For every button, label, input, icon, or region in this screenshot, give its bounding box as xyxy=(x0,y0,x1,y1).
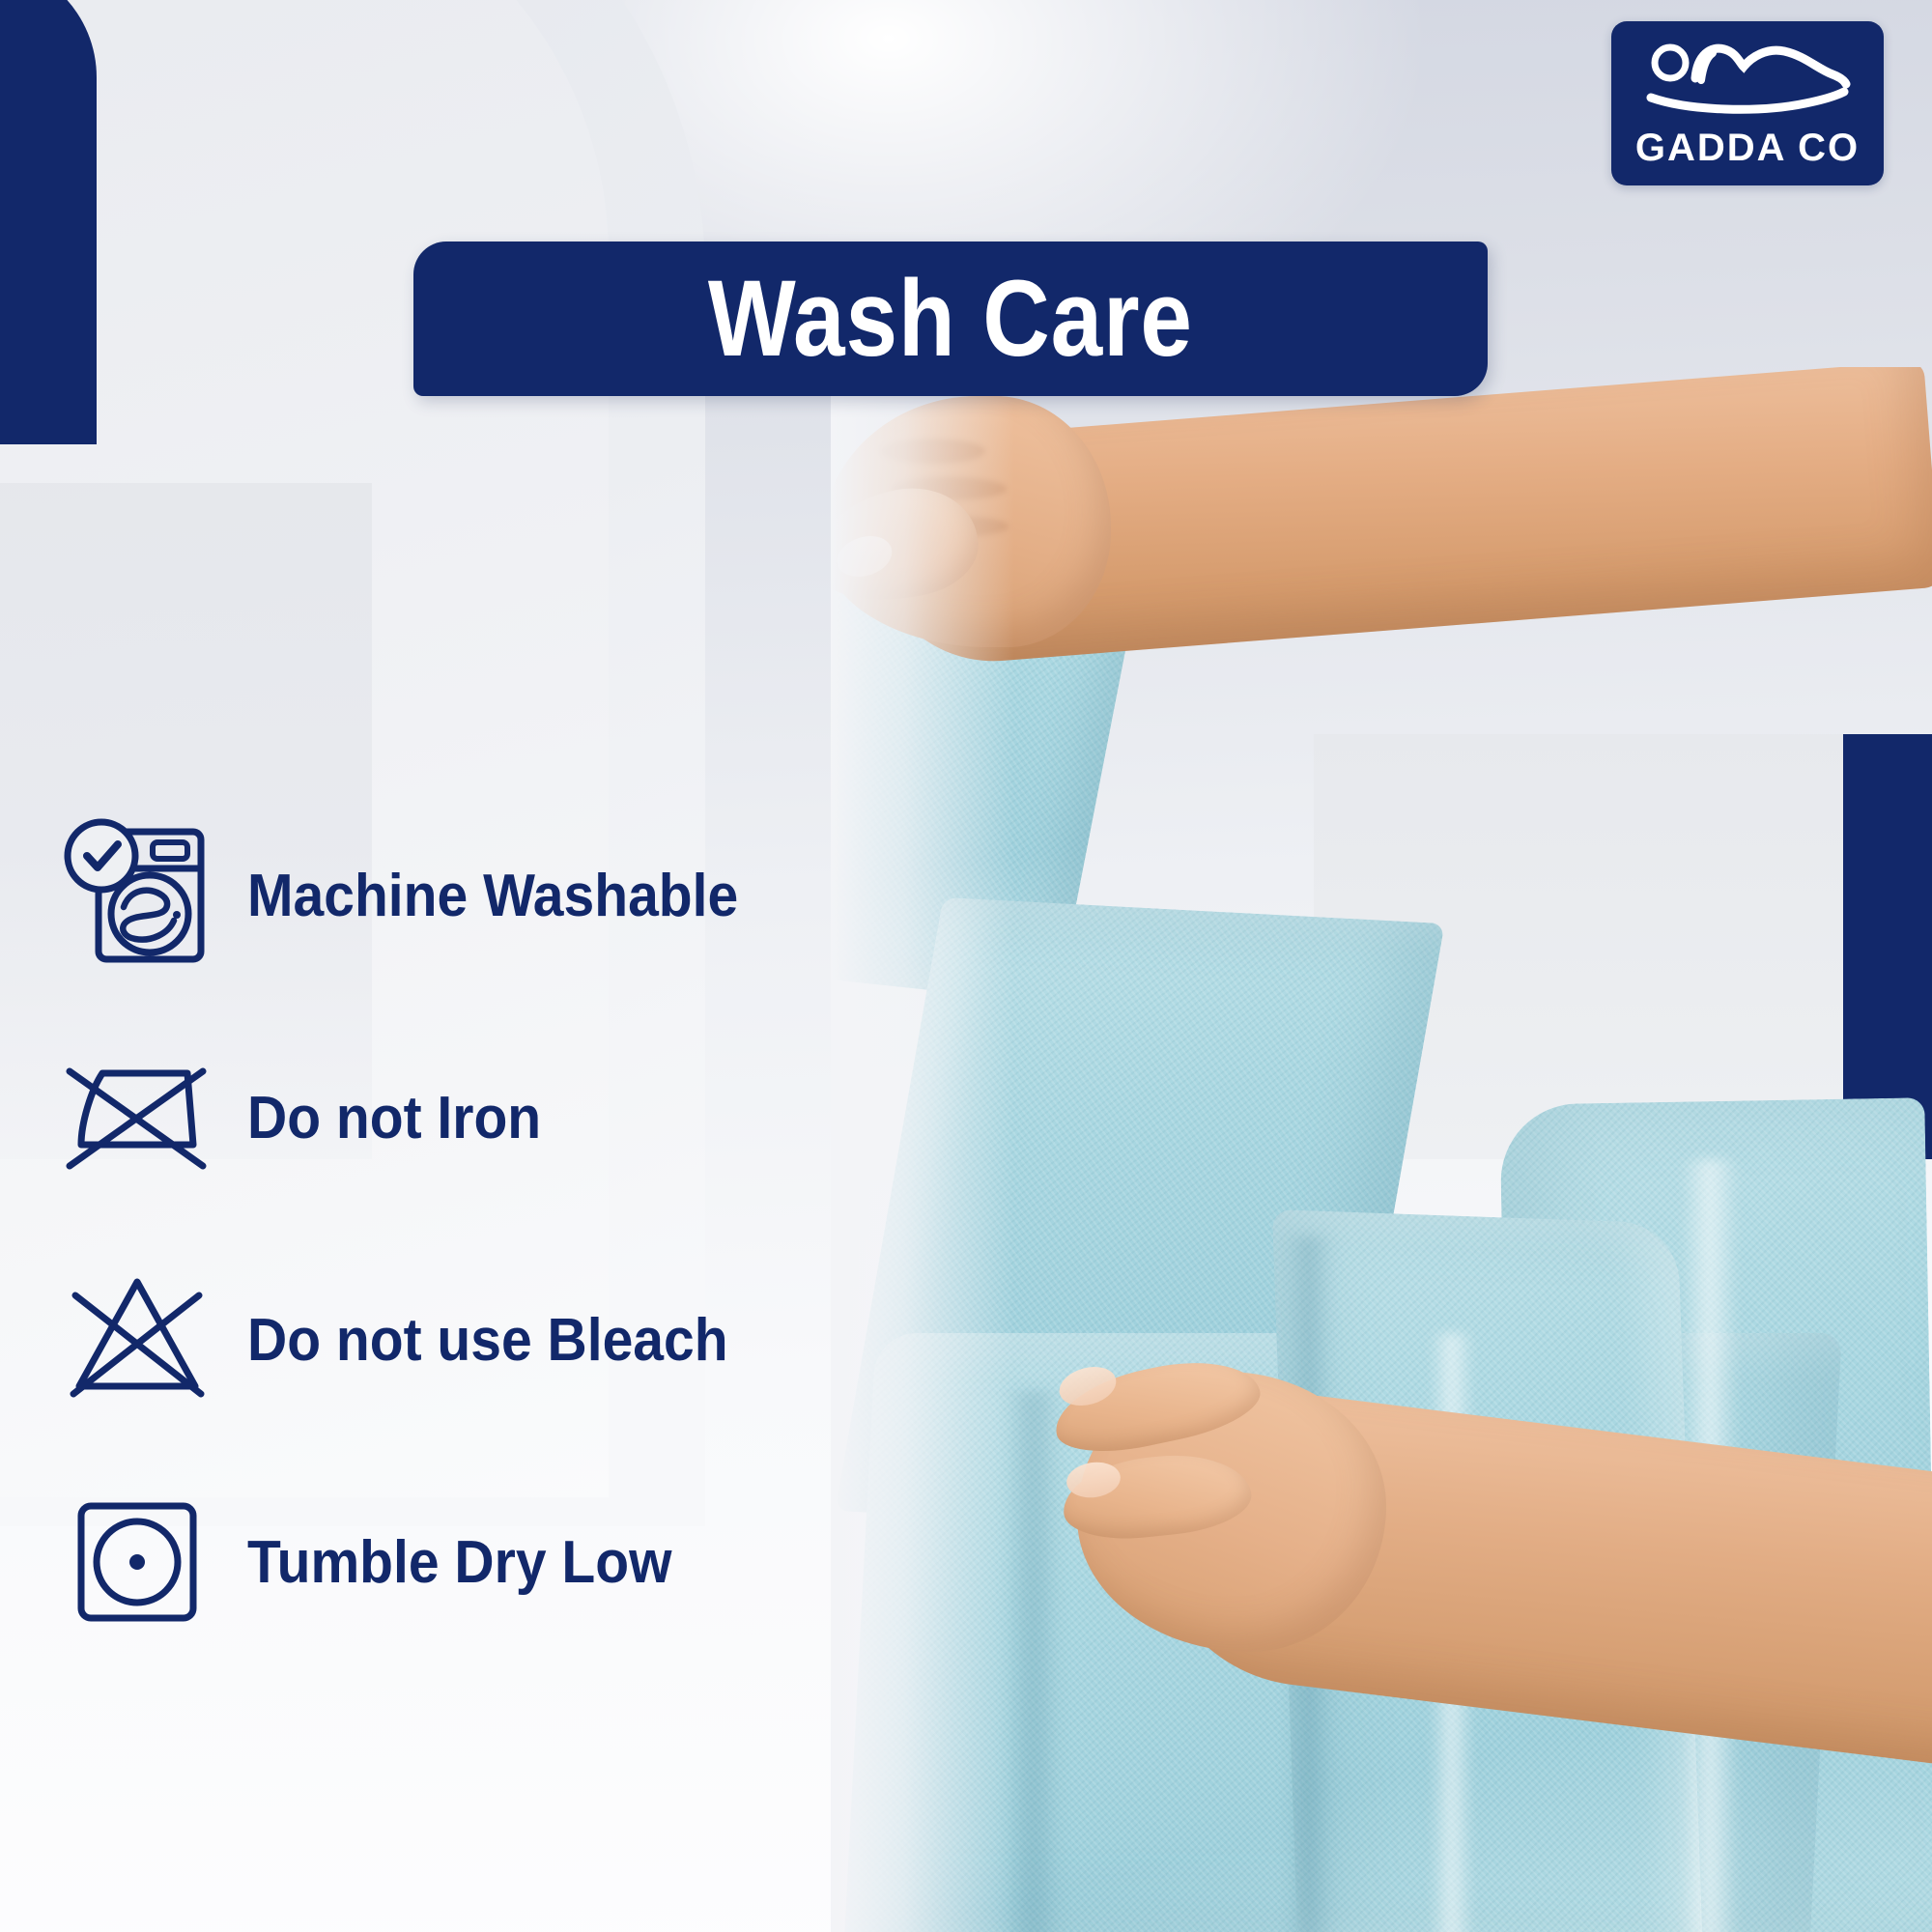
title-banner: Wash Care xyxy=(413,241,1488,396)
no-bleach-icon xyxy=(41,1259,234,1421)
care-instruction-list: Machine Washable Do not Iron Do not xyxy=(41,784,1007,1673)
care-row: Do not Iron xyxy=(41,1007,1007,1229)
care-row: Tumble Dry Low xyxy=(41,1451,1007,1673)
care-label: Do not use Bleach xyxy=(247,1306,728,1375)
care-row: Machine Washable xyxy=(41,784,1007,1007)
washing-machine-check-icon xyxy=(41,814,234,977)
person-on-mattress-icon xyxy=(1643,38,1852,121)
care-row: Do not use Bleach xyxy=(41,1229,1007,1451)
wash-care-poster: GADDA CO Wash Care Machine Washab xyxy=(0,0,1932,1932)
brand-logo[interactable]: GADDA CO xyxy=(1611,21,1884,185)
care-label: Do not Iron xyxy=(247,1084,541,1152)
no-iron-icon xyxy=(41,1037,234,1199)
care-label: Machine Washable xyxy=(247,862,738,930)
brand-name: GADDA CO xyxy=(1635,127,1860,170)
care-label: Tumble Dry Low xyxy=(247,1528,671,1597)
page-title: Wash Care xyxy=(708,265,1193,373)
tumble-dry-low-icon xyxy=(41,1481,234,1643)
background-navy-arch xyxy=(0,0,97,444)
